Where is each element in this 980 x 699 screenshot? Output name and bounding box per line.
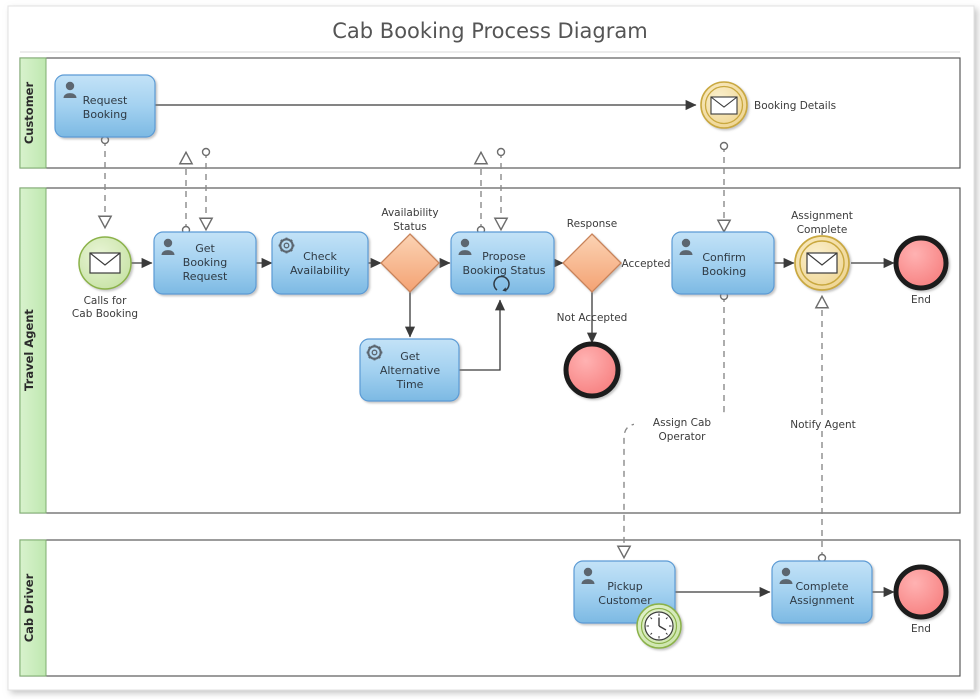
check-availability-label-2: Availability — [290, 264, 350, 277]
lane-travel-agent-label: Travel Agent — [22, 309, 36, 391]
propose-booking-status-label-1: Propose — [482, 250, 526, 263]
envelope-icon — [807, 253, 837, 273]
response-label: Response — [567, 218, 617, 230]
diagram-page: Cab Booking Process Diagram Customer Tra… — [0, 0, 980, 699]
node-get-alternative-time[interactable]: Get Alternative Time — [360, 339, 459, 401]
envelope-icon — [90, 253, 120, 273]
assignment-complete-label-2: Complete — [797, 224, 848, 236]
check-availability-box[interactable] — [272, 232, 368, 294]
accepted-label: Accepted — [622, 258, 671, 270]
booking-details-label: Booking Details — [754, 100, 836, 112]
confirm-booking-label-1: Confirm — [702, 251, 745, 264]
lane-customer: Customer — [20, 58, 960, 168]
confirm-booking-label-2: Booking — [702, 265, 746, 278]
availability-status-label-1: Availability — [381, 207, 438, 219]
get-booking-request-label-1: Get — [195, 242, 215, 255]
node-propose-booking-status[interactable]: Propose Booking Status — [451, 232, 554, 294]
complete-assignment-label-2: Assignment — [790, 594, 855, 607]
end-agent-circle[interactable] — [896, 238, 946, 288]
end-not-accepted-circle[interactable] — [566, 344, 618, 396]
envelope-icon — [711, 97, 737, 114]
end-agent-label: End — [911, 294, 931, 306]
check-availability-label-1: Check — [303, 250, 337, 263]
lane-customer-label: Customer — [22, 82, 36, 145]
complete-assignment-label-1: Complete — [795, 580, 848, 593]
node-confirm-booking[interactable]: Confirm Booking — [672, 232, 774, 294]
get-alternative-time-label-3: Time — [396, 378, 424, 391]
assignment-complete-label-1: Assignment — [791, 210, 853, 222]
node-complete-assignment[interactable]: Complete Assignment — [772, 561, 872, 623]
bpmn-canvas: Cab Booking Process Diagram Customer Tra… — [0, 0, 980, 699]
node-end-not-accepted[interactable] — [566, 344, 618, 396]
availability-status-label-2: Status — [393, 221, 426, 233]
request-booking-label-1: Request — [83, 94, 128, 107]
node-check-availability[interactable]: Check Availability — [272, 232, 368, 294]
assign-cab-operator-label-2: Operator — [659, 431, 707, 443]
get-alternative-time-label-1: Get — [400, 350, 420, 363]
lane-cab-driver-label: Cab Driver — [22, 573, 36, 642]
get-booking-request-label-3: Request — [183, 270, 228, 283]
node-get-booking-request[interactable]: Get Booking Request — [154, 232, 256, 294]
assign-cab-operator-label-1: Assign Cab — [653, 417, 711, 429]
calls-for-cab-label-2: Cab Booking — [72, 308, 138, 320]
get-booking-request-label-2: Booking — [183, 256, 227, 269]
not-accepted-label: Not Accepted — [557, 312, 628, 324]
pickup-customer-label-1: Pickup — [607, 580, 642, 593]
get-alternative-time-label-2: Alternative — [380, 364, 441, 377]
timer-icon[interactable] — [637, 604, 681, 648]
calls-for-cab-label-1: Calls for — [84, 295, 128, 307]
end-driver-circle[interactable] — [896, 567, 946, 617]
diagram-title: Cab Booking Process Diagram — [332, 19, 647, 43]
request-booking-label-2: Booking — [83, 108, 127, 121]
notify-agent-label: Notify Agent — [790, 419, 855, 431]
node-request-booking[interactable]: Request Booking — [55, 75, 155, 137]
propose-booking-status-label-2: Booking Status — [463, 264, 546, 277]
end-driver-label: End — [911, 623, 931, 635]
lane-customer-body — [20, 58, 960, 168]
pickup-customer-label-2: Customer — [598, 594, 652, 607]
